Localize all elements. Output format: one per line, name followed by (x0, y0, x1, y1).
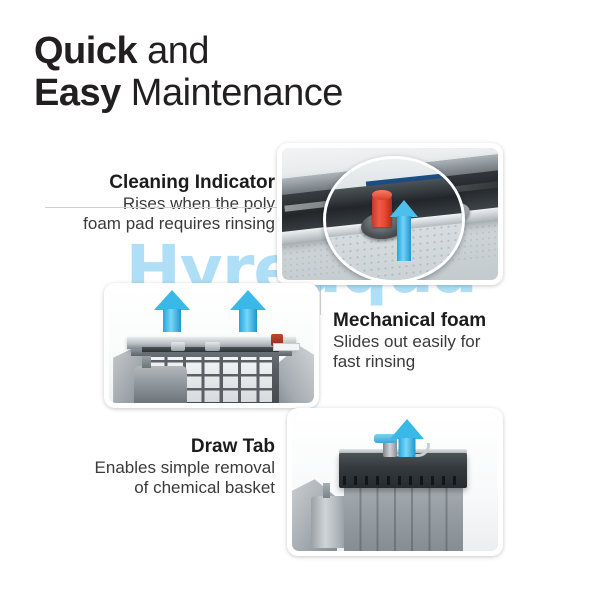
up-arrow-icon (387, 419, 427, 458)
photo2-pump-outlet (142, 356, 151, 369)
photo-card-cleaning-indicator (277, 143, 503, 285)
arrow-head (390, 200, 418, 217)
title-line-2-bold: Easy (34, 72, 121, 114)
arrow-head (390, 419, 424, 439)
photo2-hook-right (205, 342, 219, 351)
up-arrow-icon (389, 200, 419, 261)
callout-cleaning-body-line-1: Rises when the poly (20, 194, 275, 214)
callout-cleaning-indicator: Cleaning Indicator Rises when the poly f… (20, 172, 275, 234)
photo-draw-tab (292, 413, 498, 551)
photo2-white-label (273, 343, 300, 351)
photo3-pump-outlet (323, 483, 330, 498)
callout-cleaning-body: Rises when the poly foam pad requires ri… (20, 194, 275, 234)
magnifier-circle-icon (323, 156, 465, 280)
connector-line-mechanical-foam (320, 283, 321, 315)
photo-card-draw-tab (287, 408, 503, 556)
arrow-shaft (163, 309, 181, 331)
title-line-2: Easy Maintenance (34, 72, 343, 114)
callout-cleaning-heading: Cleaning Indicator (20, 172, 275, 194)
arrow-shaft (239, 309, 257, 331)
photo-cleaning-indicator (282, 148, 498, 280)
arrow-shaft (397, 216, 411, 261)
callout-draw-body: Enables simple removal of chemical baske… (20, 458, 275, 498)
photo3-filter-body (344, 479, 463, 551)
up-arrow-icon (152, 290, 192, 331)
callout-draw-body-line-1: Enables simple removal (20, 458, 275, 478)
callout-draw-heading: Draw Tab (20, 436, 275, 458)
infographic-canvas: Quick and Easy Maintenance Hyreaqua Clea… (0, 0, 600, 600)
arrow-head (230, 290, 266, 310)
title-line-1: Quick and (34, 30, 343, 72)
callout-draw-body-line-2: of chemical basket (20, 478, 275, 498)
callout-mechanical-foam: Mechanical foam Slides out easily for fa… (333, 310, 583, 372)
callout-foam-body: Slides out easily for fast rinsing (333, 332, 583, 372)
title-line-1-bold: Quick (34, 30, 137, 72)
photo2-pump (134, 366, 187, 403)
photo-card-mechanical-foam (104, 283, 319, 408)
callout-foam-heading: Mechanical foam (333, 310, 583, 332)
page-title: Quick and Easy Maintenance (34, 30, 343, 114)
title-line-2-rest: Maintenance (121, 72, 343, 114)
arrow-shaft (398, 438, 415, 458)
callout-draw-tab: Draw Tab Enables simple removal of chemi… (20, 436, 275, 498)
title-line-1-rest: and (137, 30, 209, 72)
up-arrow-icon (228, 290, 268, 331)
photo2-hook-left (171, 342, 185, 351)
callout-foam-body-line-1: Slides out easily for (333, 332, 583, 352)
photo3-chemical-basket (339, 453, 467, 488)
arrow-head (154, 290, 190, 310)
callout-cleaning-body-line-2: foam pad requires rinsing (20, 214, 275, 234)
photo-mechanical-foam (109, 288, 314, 403)
connector-line-cleaning (45, 207, 277, 208)
callout-foam-body-line-2: fast rinsing (333, 352, 583, 372)
